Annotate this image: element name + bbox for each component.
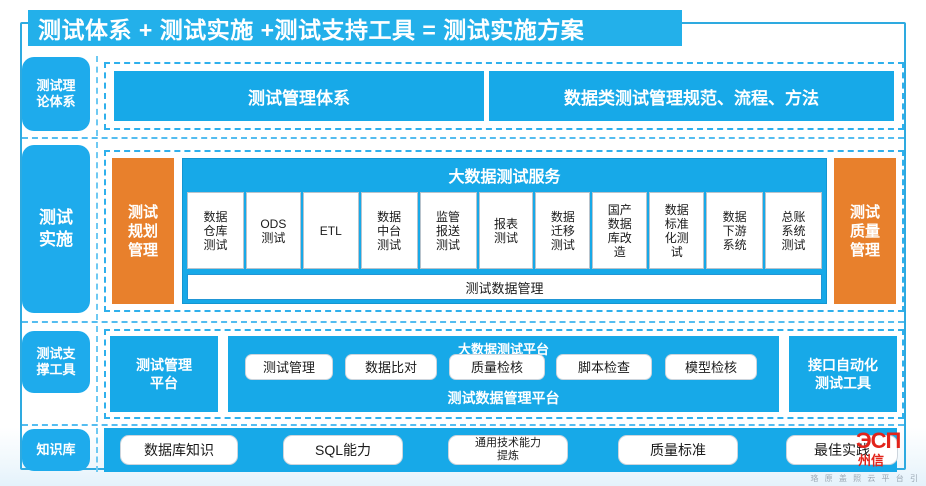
sidebar-item-implementation[interactable]: 测试实施 bbox=[22, 145, 90, 313]
test-service-cell-label: 数据迁移测试 bbox=[551, 210, 575, 252]
support-chip-label: 质量检核 bbox=[471, 360, 523, 375]
knowledge-chip[interactable]: SQL能力 bbox=[283, 435, 403, 465]
sidebar-item-support-tools-label: 测试支撑工具 bbox=[36, 346, 75, 378]
support-chip[interactable]: 数据比对 bbox=[345, 354, 437, 380]
test-management-platform-box[interactable]: 测试管理 平台 bbox=[110, 336, 218, 412]
support-chip-label: 测试管理 bbox=[263, 360, 315, 375]
test-service-cell-label: 总账系统测试 bbox=[782, 210, 806, 252]
knowledge-chip[interactable]: 质量标准 bbox=[618, 435, 738, 465]
test-service-cell-label: 数据中台测试 bbox=[377, 210, 401, 252]
test-data-management-platform-title: 测试数据管理平台 bbox=[228, 388, 779, 408]
support-chip-label: 模型检核 bbox=[685, 360, 737, 375]
test-service-cell[interactable]: ODS测试 bbox=[246, 192, 301, 269]
support-chip[interactable]: 测试管理 bbox=[245, 354, 333, 380]
support-chip-label: 脚本检查 bbox=[578, 360, 630, 375]
knowledge-chip[interactable]: 通用技术能力提炼 bbox=[448, 435, 568, 465]
page-title: 测试体系 + 测试实施 +测试支持工具 = 测试实施方案 bbox=[28, 10, 682, 46]
theory-box-management-system[interactable]: 测试管理体系 bbox=[114, 71, 484, 121]
watermark-tagline: 珞 原 盖 照 云 平 台 引 bbox=[810, 473, 920, 484]
test-management-platform-label: 测试管理 平台 bbox=[136, 356, 192, 392]
band-separator-3 bbox=[22, 424, 904, 426]
page-title-text: 测试体系 + 测试实施 +测试支持工具 = 测试实施方案 bbox=[38, 11, 584, 45]
sidebar-item-theory[interactable]: 测试理论体系 bbox=[22, 57, 90, 131]
test-service-cell-label: ODS测试 bbox=[260, 217, 286, 245]
test-quality-management-pillar[interactable]: 测试 质量 管理 bbox=[834, 158, 896, 304]
test-service-cell[interactable]: 总账系统测试 bbox=[765, 192, 822, 269]
rail-divider-1 bbox=[96, 56, 98, 136]
test-service-cell-label: 监管报送测试 bbox=[436, 210, 460, 252]
test-quality-management-label: 测试 质量 管理 bbox=[850, 203, 880, 260]
test-service-cell[interactable]: 数据仓库测试 bbox=[187, 192, 244, 269]
test-service-cell-label: 数据仓库测试 bbox=[203, 210, 227, 252]
big-data-test-service-title: 大数据测试服务 bbox=[183, 163, 826, 187]
test-planning-management-label: 测试 规划 管理 bbox=[128, 203, 158, 260]
knowledge-chip-label: 数据库知识 bbox=[144, 444, 214, 457]
knowledge-chip-label: 质量标准 bbox=[650, 444, 706, 457]
test-data-management-bar[interactable]: 测试数据管理 bbox=[187, 274, 822, 300]
api-automation-test-tool-box[interactable]: 接口自动化 测试工具 bbox=[789, 336, 897, 412]
test-service-cell-label: 国产数据库改造 bbox=[608, 203, 632, 259]
test-service-cell-label: 数据标准化测试 bbox=[665, 203, 689, 259]
support-chip-label: 数据比对 bbox=[365, 360, 417, 375]
sidebar-item-theory-label: 测试理论体系 bbox=[36, 78, 75, 110]
knowledge-chip-label: SQL能力 bbox=[315, 444, 371, 457]
support-chip[interactable]: 质量检核 bbox=[449, 354, 545, 380]
knowledge-chip[interactable]: 最佳实践 bbox=[786, 435, 898, 465]
test-data-management-label: 测试数据管理 bbox=[465, 278, 543, 297]
test-service-cell[interactable]: 数据标准化测试 bbox=[649, 192, 704, 269]
test-service-cell-label: 报表测试 bbox=[494, 217, 518, 245]
test-service-cell[interactable]: 国产数据库改造 bbox=[592, 192, 647, 269]
diagram-canvas: 测试体系 + 测试实施 +测试支持工具 = 测试实施方案 测试理论体系 测试实施… bbox=[0, 0, 926, 486]
knowledge-chip-label: 最佳实践 bbox=[814, 444, 870, 457]
test-service-cell-label: 数据下游系统 bbox=[723, 210, 747, 252]
knowledge-chip[interactable]: 数据库知识 bbox=[120, 435, 238, 465]
api-automation-test-tool-label: 接口自动化 测试工具 bbox=[808, 356, 878, 392]
test-service-cell-label: ETL bbox=[320, 224, 342, 238]
theory-box-data-spec[interactable]: 数据类测试管理规范、流程、方法 bbox=[489, 71, 894, 121]
theory-box-management-system-label: 测试管理体系 bbox=[248, 84, 350, 109]
support-chip[interactable]: 模型检核 bbox=[665, 354, 757, 380]
theory-box-data-spec-label: 数据类测试管理规范、流程、方法 bbox=[564, 84, 819, 109]
sidebar-item-knowledge-base[interactable]: 知识库 bbox=[22, 429, 90, 471]
sidebar-item-knowledge-base-label: 知识库 bbox=[36, 442, 75, 458]
test-service-cell[interactable]: 数据下游系统 bbox=[706, 192, 763, 269]
band-separator-2 bbox=[22, 321, 904, 323]
band-separator-1 bbox=[22, 137, 904, 139]
test-service-cell[interactable]: 数据迁移测试 bbox=[535, 192, 590, 269]
knowledge-chip-label: 通用技术能力提炼 bbox=[475, 437, 541, 463]
test-service-cell[interactable]: ETL bbox=[303, 192, 359, 269]
test-service-cell[interactable]: 报表测试 bbox=[479, 192, 534, 269]
test-service-cell-row: 数据仓库测试ODS测试ETL数据中台测试监管报送测试报表测试数据迁移测试国产数据… bbox=[187, 192, 822, 269]
sidebar-item-support-tools[interactable]: 测试支撑工具 bbox=[22, 331, 90, 393]
test-service-cell[interactable]: 监管报送测试 bbox=[420, 192, 477, 269]
test-planning-management-pillar[interactable]: 测试 规划 管理 bbox=[112, 158, 174, 304]
rail-divider-4 bbox=[96, 428, 98, 472]
test-service-cell[interactable]: 数据中台测试 bbox=[361, 192, 418, 269]
rail-divider-3 bbox=[96, 326, 98, 422]
rail-divider-2 bbox=[96, 142, 98, 320]
sidebar-item-implementation-label: 测试实施 bbox=[39, 207, 73, 251]
support-chip[interactable]: 脚本检查 bbox=[556, 354, 652, 380]
